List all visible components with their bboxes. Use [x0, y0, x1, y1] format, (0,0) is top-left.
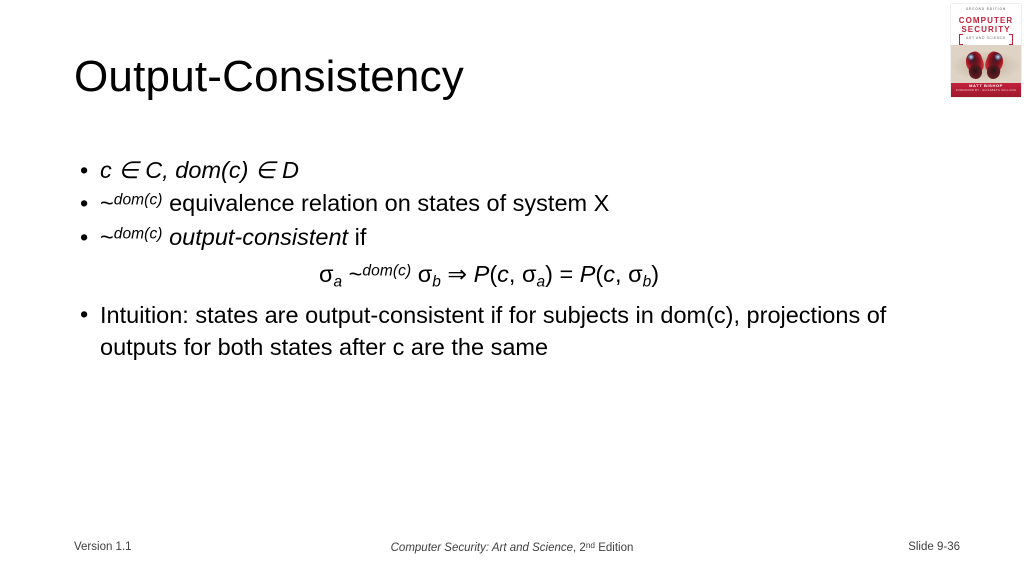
- sigma-a-subscript-2: a: [536, 273, 545, 290]
- formula-p-right: P: [580, 261, 596, 287]
- book-cover-contributors: FOREWORD BY · ELISABETH SULLIVAN: [951, 90, 1021, 93]
- bullet-marker-icon: •: [80, 222, 88, 253]
- bullet-intuition: • Intuition: states are output-consisten…: [74, 299, 904, 364]
- formula-p-left: P: [474, 261, 490, 287]
- page-title: Output-Consistency: [74, 52, 924, 103]
- sigma-b-subscript-2: b: [643, 273, 652, 290]
- bullet-marker-icon: •: [80, 155, 88, 186]
- slide-body: • c ∈ C, dom(c) ∈ D • ~dom(c) equivalenc…: [74, 155, 904, 366]
- book-cover-edition-line: SECOND EDITION: [951, 8, 1021, 11]
- paren-close: ): [545, 261, 553, 287]
- sigma-glyph: σ: [628, 261, 643, 287]
- formula-c-right: c: [603, 261, 615, 287]
- superscript-dom-c: dom(c): [362, 262, 411, 279]
- bullet-definitions-text: c ∈ C, dom(c) ∈ D: [100, 157, 299, 183]
- slide-canvas: SECOND EDITION COMPUTER SECURITY ART AND…: [0, 0, 1024, 576]
- formula-c-left: c: [497, 261, 509, 287]
- book-cover-butterfly-image: [951, 45, 1021, 83]
- comma-2: ,: [615, 261, 622, 287]
- book-cover-author: MATT BISHOP: [951, 84, 1021, 88]
- sigma-b-symbol: σb: [418, 261, 441, 287]
- sigma-a-symbol-2: σa: [522, 261, 545, 287]
- book-cover-subtitle: ART AND SCIENCE: [951, 37, 1021, 41]
- tilde-symbol: ~: [100, 224, 114, 250]
- paren-open: (: [489, 261, 497, 287]
- slide-footer: Version 1.1 Computer Security: Art and S…: [0, 541, 1024, 561]
- footer-book-title: Computer Security: Art and Science: [391, 542, 573, 554]
- footer-edition-suffix: Edition: [595, 542, 633, 554]
- tilde-symbol: ~: [349, 261, 363, 287]
- book-cover-title-line2: SECURITY: [951, 26, 1021, 34]
- book-cover-thumbnail: SECOND EDITION COMPUTER SECURITY ART AND…: [951, 4, 1021, 97]
- butterfly-wing-lower-right-icon: [986, 64, 1001, 80]
- equals-symbol: =: [559, 261, 573, 287]
- bullet-equivalence-relation: • ~dom(c) equivalence relation on states…: [74, 188, 904, 219]
- comma: ,: [509, 261, 516, 287]
- bullet-intuition-text: Intuition: states are output-consistent …: [100, 302, 886, 360]
- sigma-glyph: σ: [319, 261, 334, 287]
- bullet-equivalence-relation-text: equivalence relation on states of system…: [169, 190, 609, 216]
- bullet-definitions: • c ∈ C, dom(c) ∈ D: [74, 155, 904, 186]
- footer-book-reference: Computer Security: Art and Science, 2nd …: [0, 541, 1024, 554]
- superscript-dom-c: dom(c): [114, 192, 163, 209]
- footer-edition-prefix: , 2: [573, 542, 586, 554]
- bullet-marker-icon: •: [80, 299, 88, 330]
- paren-close-2: ): [651, 261, 659, 287]
- butterfly-eyespot-right-icon: [995, 54, 1001, 60]
- sigma-b-symbol-2: σb: [628, 261, 651, 287]
- butterfly-eyespot-left-icon: [968, 54, 974, 60]
- bullet-output-consistent: • ~dom(c) output-consistent if: [74, 222, 904, 253]
- bullet-marker-icon: •: [80, 188, 88, 219]
- bullet-output-consistent-text: if: [355, 224, 367, 250]
- bullet-output-consistent-emphasis: output-consistent: [169, 224, 348, 250]
- footer-edition-ordinal: nd: [586, 541, 595, 550]
- butterfly-wing-lower-left-icon: [968, 64, 983, 80]
- tilde-symbol: ~: [100, 190, 114, 216]
- footer-slide-number: Slide 9-36: [908, 541, 960, 553]
- sigma-b-subscript: b: [432, 273, 441, 290]
- sigma-glyph: σ: [418, 261, 433, 287]
- sigma-glyph: σ: [522, 261, 537, 287]
- sigma-a-symbol: σa: [319, 261, 342, 287]
- book-cover-title-line1: COMPUTER: [951, 17, 1021, 25]
- book-cover-author-band: MATT BISHOP FOREWORD BY · ELISABETH SULL…: [951, 83, 1021, 97]
- implies-symbol: ⇒: [447, 261, 467, 287]
- formula-output-consistency: σa ~dom(c) σb ⇒ P(c, σa) = P(c, σb): [74, 259, 904, 293]
- superscript-dom-c: dom(c): [114, 225, 163, 242]
- sigma-a-subscript: a: [333, 273, 342, 290]
